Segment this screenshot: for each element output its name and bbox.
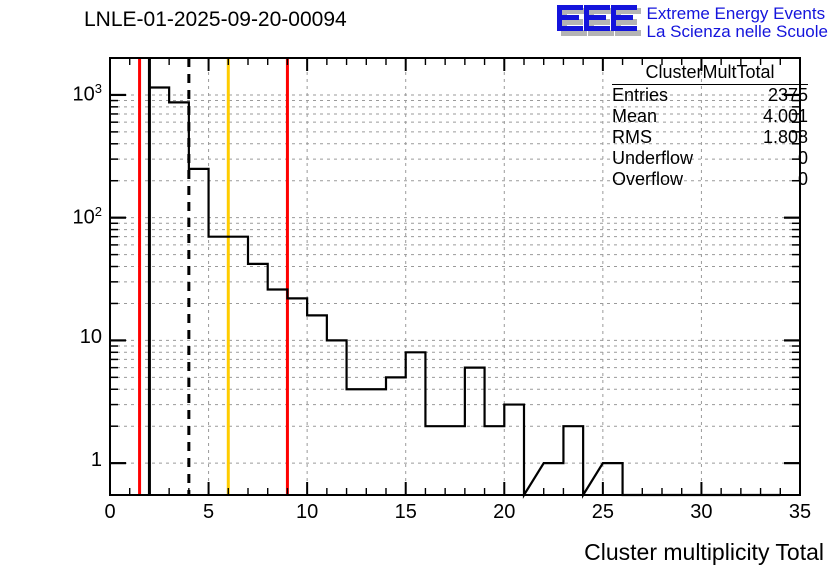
stats-box: ClusterMultTotal Entries 2375 Mean 4.001… bbox=[612, 62, 808, 190]
eee-logo-mark bbox=[555, 4, 641, 40]
x-tick-label-20: 20 bbox=[474, 501, 534, 524]
page-title: LNLE-01-2025-09-20-00094 bbox=[84, 8, 347, 32]
stats-value-entries: 2375 bbox=[768, 85, 808, 106]
stats-label-mean: Mean bbox=[612, 106, 663, 127]
stats-label-overflow: Overflow bbox=[612, 169, 689, 190]
stats-row-entries: Entries 2375 bbox=[612, 85, 808, 106]
stats-value-overflow: 0 bbox=[798, 169, 808, 190]
x-tick-label-25: 25 bbox=[573, 501, 633, 524]
stats-value-underflow: 0 bbox=[798, 148, 808, 169]
x-tick-label-15: 15 bbox=[376, 501, 436, 524]
stats-row-mean: Mean 4.001 bbox=[612, 106, 808, 127]
stats-row-overflow: Overflow 0 bbox=[612, 169, 808, 190]
stats-box-title: ClusterMultTotal bbox=[612, 62, 808, 85]
y-tick-label-103: 103 bbox=[73, 81, 102, 107]
stats-label-rms: RMS bbox=[612, 127, 658, 148]
x-axis-title: Cluster multiplicity Total bbox=[584, 539, 824, 566]
stats-value-rms: 1.808 bbox=[763, 127, 808, 148]
stats-value-mean: 4.001 bbox=[763, 106, 808, 127]
logo-line-2: La Scienza nelle Scuole bbox=[647, 23, 828, 41]
eee-logo: Extreme Energy Events La Scienza nelle S… bbox=[555, 4, 828, 40]
stats-label-underflow: Underflow bbox=[612, 148, 699, 169]
y-tick-label-10: 10 bbox=[80, 326, 102, 349]
x-tick-label-0: 0 bbox=[80, 501, 140, 524]
y-tick-label-102: 102 bbox=[73, 204, 102, 230]
x-tick-label-30: 30 bbox=[671, 501, 731, 524]
x-tick-label-10: 10 bbox=[277, 501, 337, 524]
x-tick-label-35: 35 bbox=[770, 501, 830, 524]
stats-row-underflow: Underflow 0 bbox=[612, 148, 808, 169]
marker-lines-layer bbox=[140, 58, 288, 495]
stats-row-rms: RMS 1.808 bbox=[612, 127, 808, 148]
y-tick-label-1: 1 bbox=[91, 449, 102, 472]
x-tick-label-5: 5 bbox=[179, 501, 239, 524]
logo-line-1: Extreme Energy Events bbox=[647, 5, 828, 23]
stats-label-entries: Entries bbox=[612, 85, 674, 106]
eee-logo-text: Extreme Energy Events La Scienza nelle S… bbox=[647, 4, 828, 40]
